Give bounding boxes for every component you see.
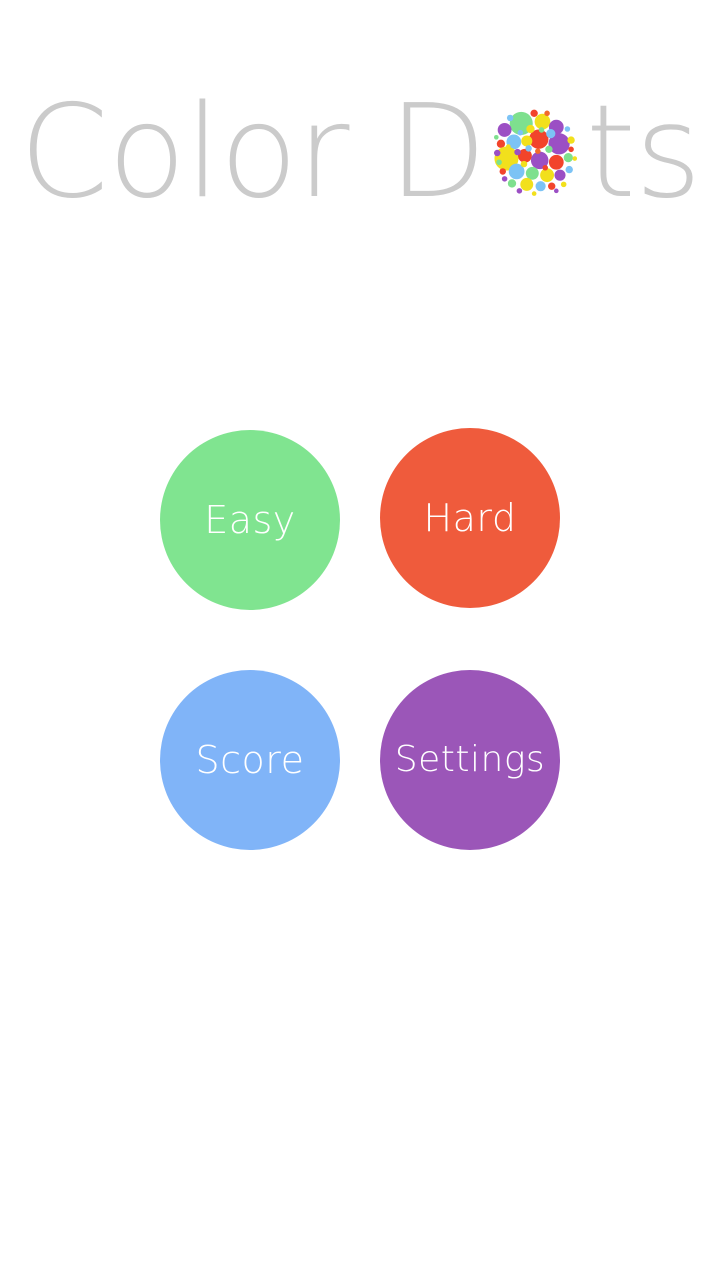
logo-dot-42 (521, 161, 527, 167)
logo-dot-47 (496, 159, 502, 165)
logo-dot-22 (548, 183, 555, 190)
logo-dot-33 (494, 135, 499, 140)
menu-row-bottom: Score Settings (0, 670, 720, 852)
logo-dot-38 (514, 149, 520, 155)
easy-button[interactable]: Easy (160, 430, 340, 610)
logo-dot-3 (497, 123, 511, 137)
logo-dot-39 (568, 147, 574, 153)
logo-dot-14 (563, 153, 572, 162)
logo-dot-40 (506, 144, 511, 149)
dot-cluster-group (494, 110, 577, 196)
logo-dot-21 (508, 179, 516, 187)
color-dots-cluster-svg (488, 105, 584, 201)
hard-button-label: Hard (424, 499, 517, 537)
hard-button[interactable]: Hard (380, 428, 560, 608)
logo-dot-26 (507, 115, 513, 121)
logo-dot-19 (520, 178, 533, 191)
logo-dot-23 (565, 166, 572, 173)
logo-dot-30 (516, 188, 522, 194)
app-title-text-left: Color D (19, 89, 485, 217)
app-title-text-right: ts (586, 89, 701, 217)
logo-dot-18 (554, 170, 565, 181)
logo-dot-8 (497, 140, 505, 148)
logo-dot-46 (539, 127, 545, 133)
logo-dot-31 (532, 191, 537, 196)
logo-dot-44 (554, 189, 559, 194)
logo-dot-27 (494, 150, 500, 156)
settings-button[interactable]: Settings (380, 670, 560, 850)
page-title: Color D ts (0, 78, 720, 228)
logo-dot-9 (546, 129, 555, 138)
score-button-label: Score (196, 741, 305, 779)
easy-button-label: Easy (204, 501, 296, 539)
logo-dot-17 (540, 168, 554, 182)
logo-dot-41 (542, 165, 548, 171)
logo-dot-32 (499, 168, 505, 174)
logo-dot-20 (535, 181, 545, 191)
logo-dot-28 (567, 136, 574, 143)
logo-dot-45 (502, 176, 508, 182)
logo-dot-35 (517, 130, 523, 136)
logo-dot-24 (530, 110, 537, 117)
logo-dot-43 (561, 182, 567, 188)
color-dots-cluster-icon (488, 105, 584, 201)
main-menu: Easy Hard Score Settings (0, 428, 720, 852)
logo-dot-1 (534, 114, 550, 130)
logo-dot-25 (544, 111, 550, 117)
menu-row-top: Easy Hard (0, 428, 720, 610)
logo-dot-29 (564, 126, 570, 132)
logo-dot-13 (549, 155, 564, 170)
logo-dot-34 (526, 125, 534, 133)
settings-button-label: Settings (395, 742, 545, 778)
logo-dot-48 (572, 156, 577, 161)
logo-dot-36 (545, 146, 552, 153)
logo-dot-7 (521, 135, 532, 146)
logo-dot-49 (535, 148, 541, 154)
logo-dot-37 (525, 145, 531, 151)
score-button[interactable]: Score (160, 670, 340, 850)
logo-dot-16 (526, 167, 539, 180)
